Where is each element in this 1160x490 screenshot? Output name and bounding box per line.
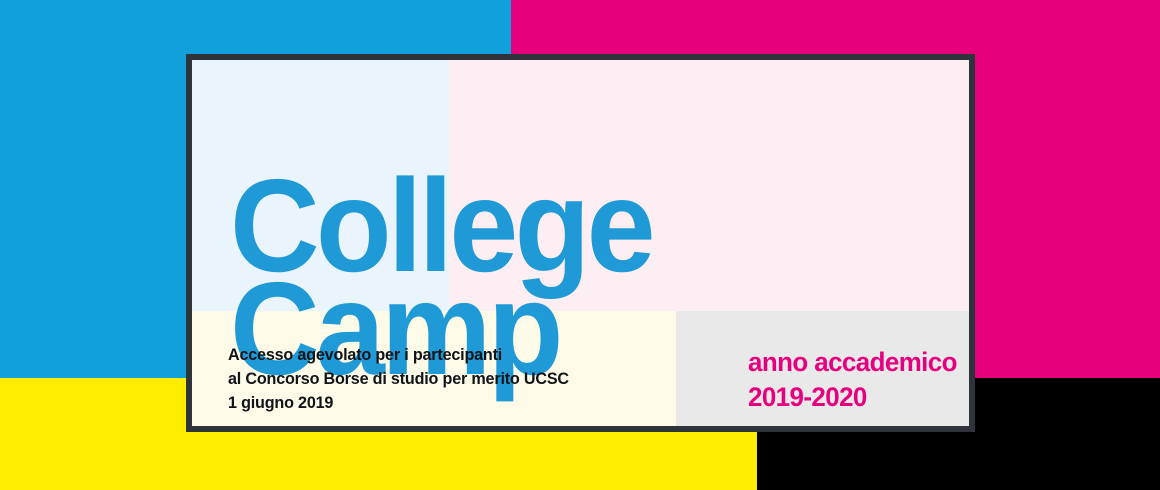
poster: College Camp 2019 Accesso agevolato per …	[0, 0, 1160, 490]
event-info-date: 1 giugno 2019	[228, 391, 569, 415]
event-info-line-1: Accesso agevolato per i partecipanti	[228, 343, 569, 367]
academic-year-block: anno accademico 2019-2020	[748, 345, 957, 415]
poster-card: College Camp 2019 Accesso agevolato per …	[186, 54, 975, 432]
event-info-line-2: al Concorso Borse di studio per merito U…	[228, 367, 569, 391]
event-info-text: Accesso agevolato per i partecipanti al …	[228, 343, 569, 415]
academic-year-label: anno accademico	[748, 345, 957, 380]
poster-card-inner: College Camp 2019 Accesso agevolato per …	[192, 60, 969, 426]
academic-year-value: 2019-2020	[748, 380, 957, 415]
